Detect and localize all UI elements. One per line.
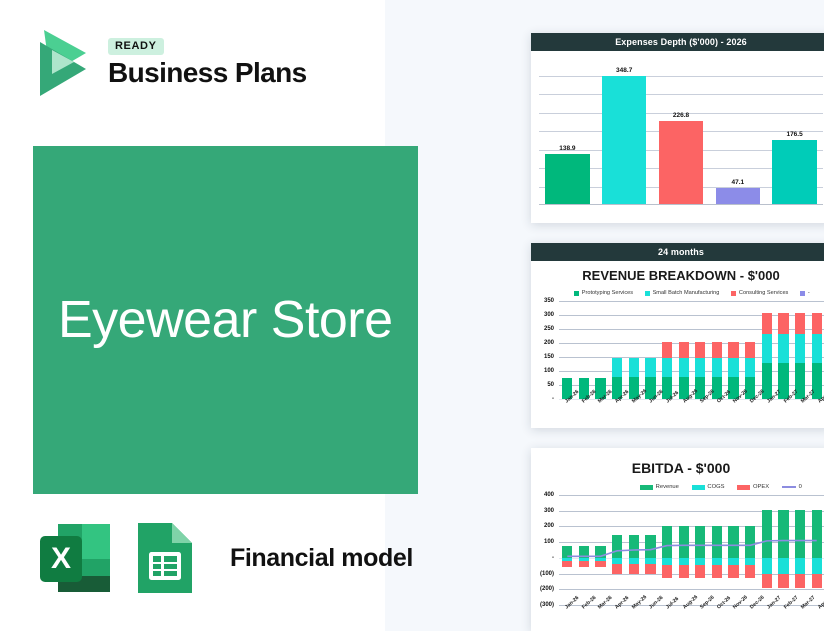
stacked-bar-segment: [795, 334, 805, 363]
bar: [659, 121, 703, 205]
legend-swatch: [782, 486, 796, 488]
y-axis-tick: (200): [540, 586, 554, 592]
y-axis-tick: (300): [540, 602, 554, 608]
chart-card-ebitda[interactable]: EBITDA - $'000 RevenueCOGSOPEX0 40030020…: [531, 448, 824, 631]
legend-item: OPEX: [737, 484, 769, 490]
stacked-bar-segment: [612, 358, 622, 377]
stacked-bar-segment: [762, 334, 772, 363]
legend-swatch: [737, 485, 750, 490]
bar-value-label: 226.8: [673, 112, 689, 119]
y-axis-tick: 150: [544, 354, 554, 360]
ebitda-plot-area: 400300200100-(100)(200)(300): [531, 495, 824, 605]
legend-swatch: [645, 291, 650, 296]
legend-label: Consulting Services: [739, 290, 788, 296]
revenue-x-axis-labels: Jan-26Feb-26Mar-26Apr-26May-26Jun-26Jul-…: [559, 399, 824, 425]
stacked-bar-segment: [812, 334, 822, 363]
revenue-plot-area: 35030025020015010050-: [531, 301, 824, 399]
bar: [545, 154, 589, 205]
y-axis-tick: 400: [544, 492, 554, 498]
legend-label: Small Batch Manufacturing: [653, 290, 720, 296]
bar: [716, 188, 760, 205]
play-triangle-logo-icon: [28, 28, 94, 98]
expenses-chart-header: Expenses Depth ($'000) - 2026: [531, 33, 824, 51]
svg-text:X: X: [51, 542, 71, 575]
legend-label: 0: [799, 484, 802, 490]
bar-value-label: 348.7: [616, 67, 632, 74]
chart-card-expenses[interactable]: Expenses Depth ($'000) - 2026 138.9348.7…: [531, 33, 824, 223]
legend-label: COGS: [707, 484, 724, 490]
gridline: [559, 301, 824, 302]
ebitda-chart-legend: RevenueCOGSOPEX0: [531, 484, 824, 490]
y-axis-tick: -: [552, 396, 554, 402]
stacked-bar-segment: [695, 342, 705, 359]
stacked-bar-segment: [645, 358, 655, 377]
bar-value-label: 176.5: [786, 131, 802, 138]
stacked-bar-segment: [762, 313, 772, 333]
legend-item: Prototyping Services: [574, 290, 633, 296]
y-axis-tick: 250: [544, 326, 554, 332]
legend-swatch: [731, 291, 736, 296]
legend-item: Consulting Services: [731, 290, 788, 296]
ebitda-chart-title: EBITDA - $'000: [531, 460, 824, 476]
chart-card-revenue[interactable]: 24 months REVENUE BREAKDOWN - $'000 Prot…: [531, 243, 824, 428]
y-axis-tick: 100: [544, 539, 554, 545]
brand-text: READY Business Plans: [108, 38, 307, 87]
financial-model-row: X Financial model: [36, 518, 413, 598]
y-axis-tick: 350: [544, 298, 554, 304]
stacked-bar-segment: [745, 358, 755, 377]
revenue-chart-title: REVENUE BREAKDOWN - $'000: [531, 268, 824, 283]
y-axis-tick: 300: [544, 312, 554, 318]
zero-line-series: [559, 495, 824, 605]
bar: [772, 140, 816, 205]
revenue-chart-legend: Prototyping ServicesSmall Batch Manufact…: [531, 290, 824, 296]
legend-swatch: [574, 291, 579, 296]
y-axis-tick: 100: [544, 368, 554, 374]
expenses-plot-area: 138.9348.7226.847.1176.5: [539, 57, 823, 205]
legend-item: Revenue: [640, 484, 679, 490]
stacked-bar-segment: [679, 342, 689, 359]
stacked-bar-segment: [712, 342, 722, 359]
stacked-bar-segment: [662, 342, 672, 359]
gridline: [539, 94, 823, 95]
stacked-bar-segment: [728, 342, 738, 359]
microsoft-excel-icon: X: [36, 518, 114, 598]
y-axis-tick: 200: [544, 523, 554, 529]
legend-label: Revenue: [656, 484, 679, 490]
ready-badge: READY: [108, 38, 164, 55]
legend-label: OPEX: [753, 484, 769, 490]
stacked-bar-segment: [778, 313, 788, 333]
stacked-bar-segment: [695, 358, 705, 377]
bar-value-label: 47.1: [731, 179, 744, 186]
hero-panel: Eyewear Store: [33, 146, 418, 494]
gridline: [539, 76, 823, 77]
stacked-bar-segment: [629, 358, 639, 377]
y-axis-tick: 300: [544, 508, 554, 514]
stacked-bar-segment: [812, 313, 822, 333]
stacked-bar-segment: [712, 358, 722, 377]
page-title: Eyewear Store: [58, 290, 393, 350]
bar: [602, 76, 646, 205]
expenses-axis-line: [539, 204, 823, 205]
y-axis-tick: 200: [544, 340, 554, 346]
legend-item: Small Batch Manufacturing: [645, 290, 719, 296]
legend-swatch: [640, 485, 653, 490]
stacked-bar-segment: [778, 334, 788, 363]
y-axis-tick: 50: [547, 382, 554, 388]
legend-item: COGS: [692, 484, 725, 490]
stacked-bar-segment: [728, 358, 738, 377]
google-sheets-icon: [130, 518, 208, 598]
stacked-bar-segment: [662, 358, 672, 377]
legend-swatch: [692, 485, 705, 490]
legend-label: -: [808, 290, 810, 296]
brand-lockup: READY Business Plans: [28, 28, 307, 98]
legend-item: -: [800, 290, 809, 296]
stacked-bar-segment: [795, 313, 805, 333]
stacked-bar-segment: [745, 342, 755, 359]
y-axis-tick: -: [552, 555, 554, 561]
legend-item: 0: [782, 484, 802, 490]
ebitda-x-axis-labels: Jan-26Feb-26Mar-26Apr-26May-26Jun-26Jul-…: [559, 605, 824, 631]
y-axis-tick: (100): [540, 571, 554, 577]
legend-label: Prototyping Services: [582, 290, 633, 296]
financial-model-label: Financial model: [230, 544, 413, 573]
legend-swatch: [800, 291, 805, 296]
revenue-chart-header: 24 months: [531, 243, 824, 261]
brand-name: Business Plans: [108, 58, 307, 87]
stacked-bar-segment: [679, 358, 689, 377]
bar-value-label: 138.9: [559, 145, 575, 152]
